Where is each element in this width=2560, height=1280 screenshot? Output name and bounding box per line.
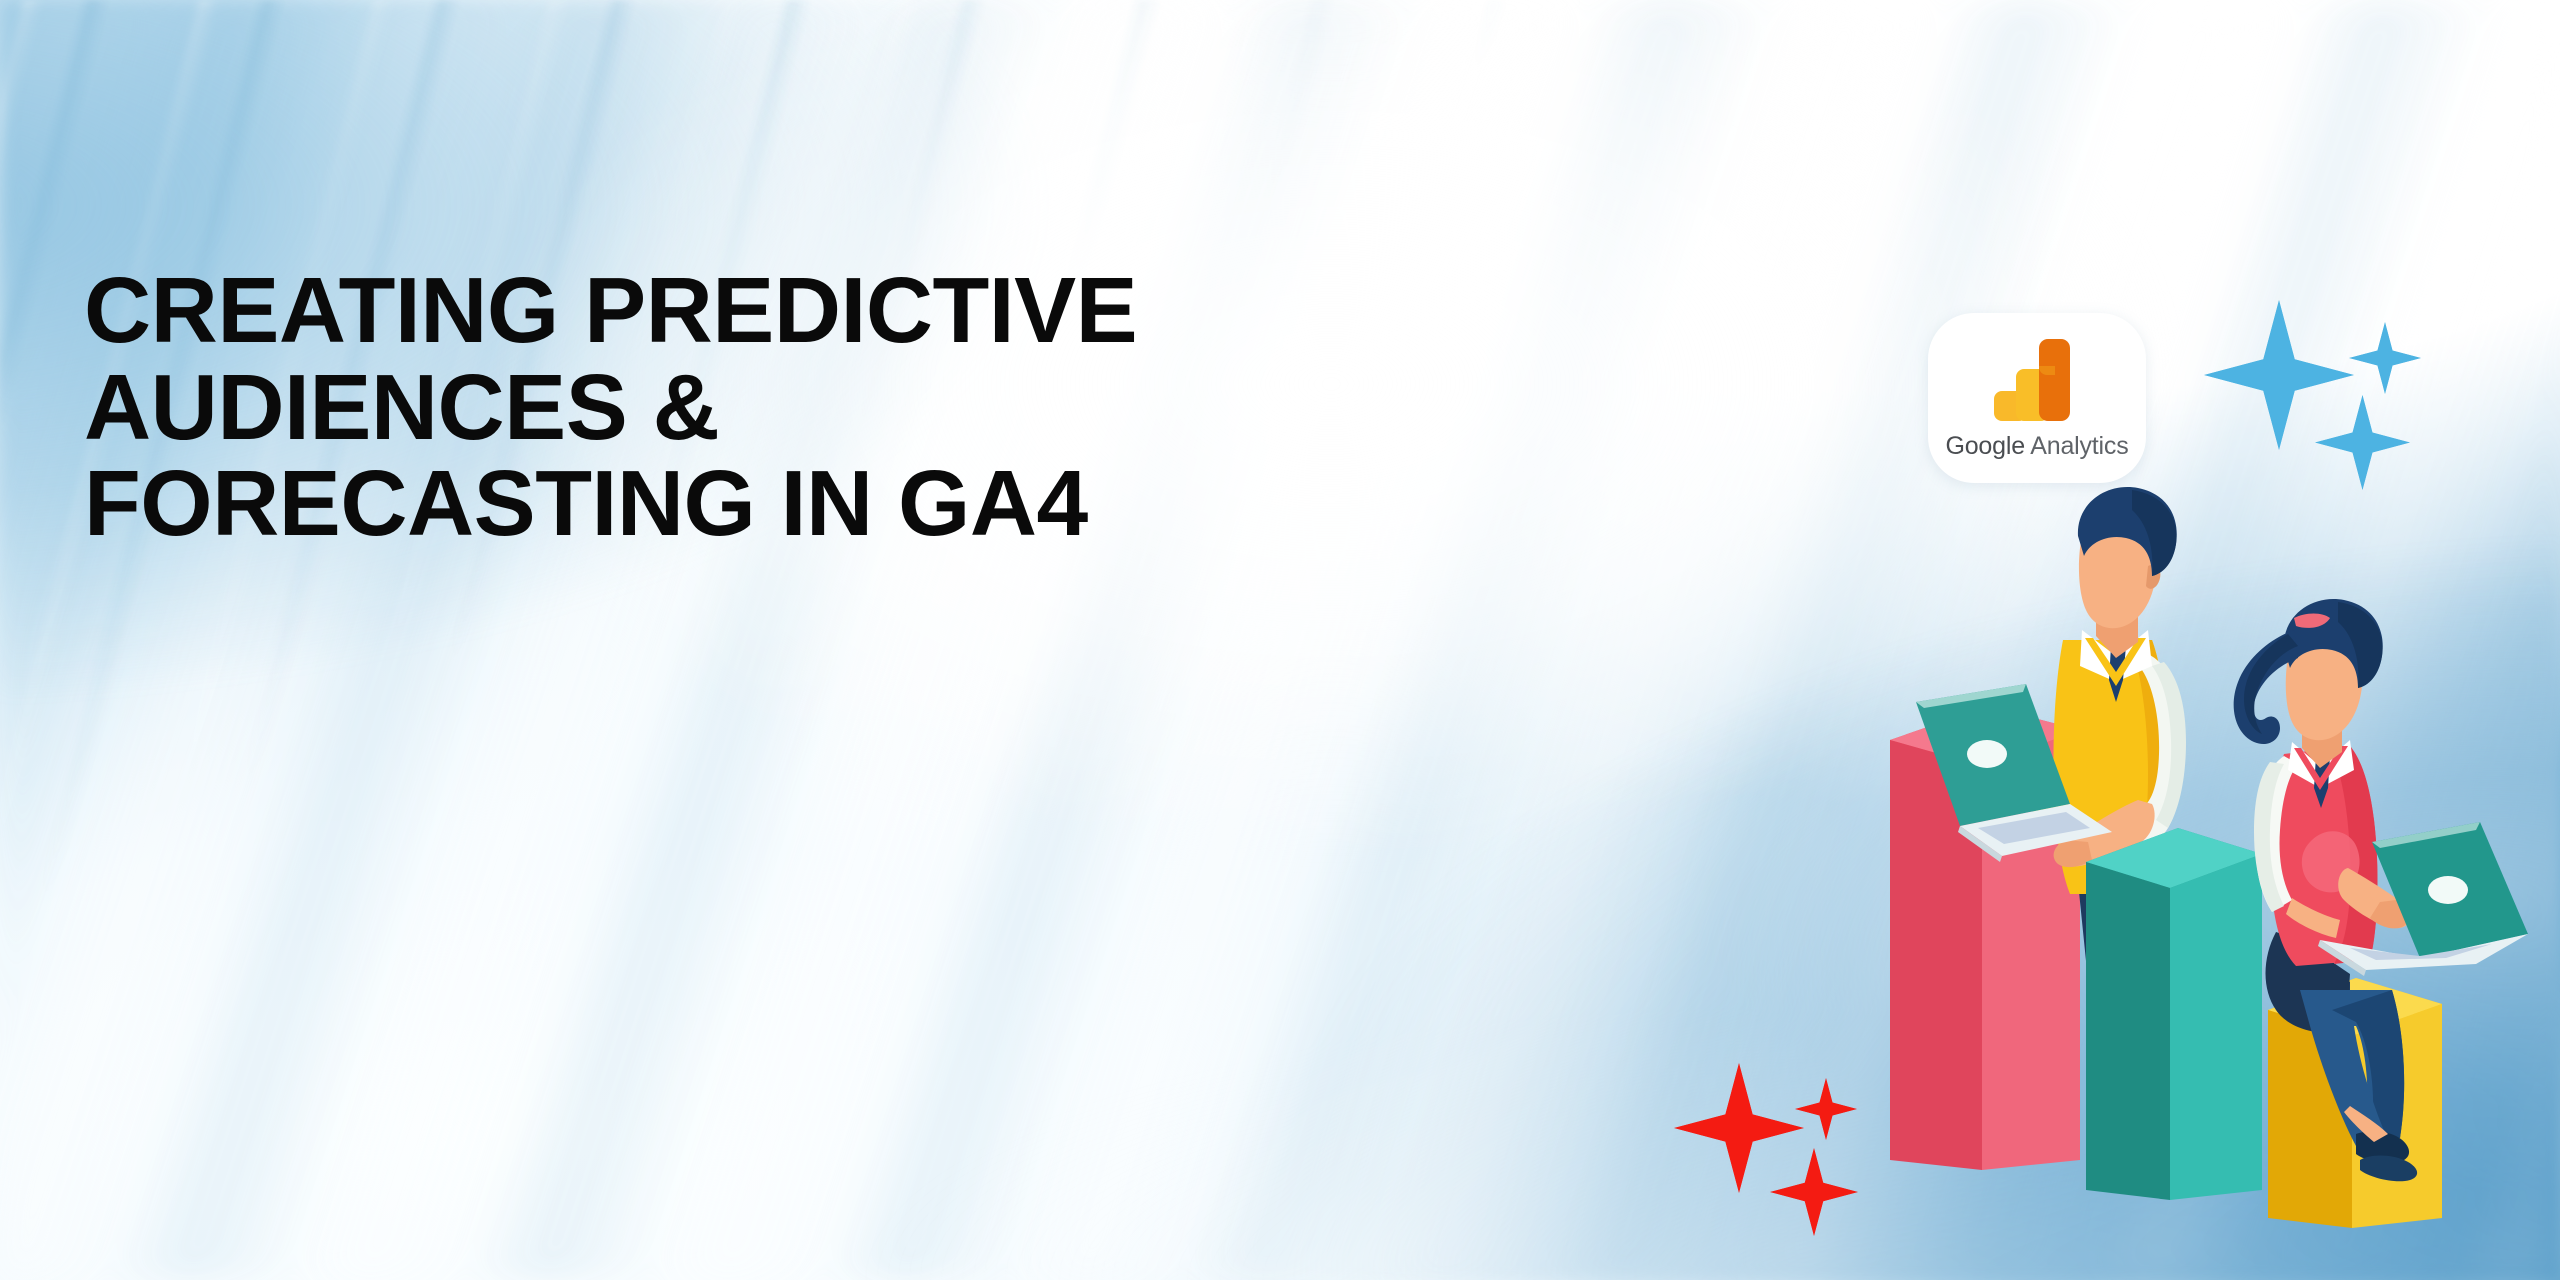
banner: CREATING PREDICTIVE AUDIENCES & FORECAST…: [0, 0, 2560, 1280]
google-analytics-logo: Google Analytics: [1928, 313, 2146, 483]
ga-word-analytics: Analytics: [2025, 432, 2129, 460]
google-analytics-icon: [1994, 337, 2080, 421]
bar-teal: [2086, 828, 2262, 1200]
page-title: CREATING PREDICTIVE AUDIENCES & FORECAST…: [84, 262, 1164, 552]
ga-word-google: Google: [1945, 432, 2024, 460]
ga-bar-tall-icon: [2039, 339, 2070, 421]
google-analytics-wordmark: Google Analytics: [1945, 432, 2128, 461]
bar-chart-people-illustration: [1880, 470, 2540, 1250]
